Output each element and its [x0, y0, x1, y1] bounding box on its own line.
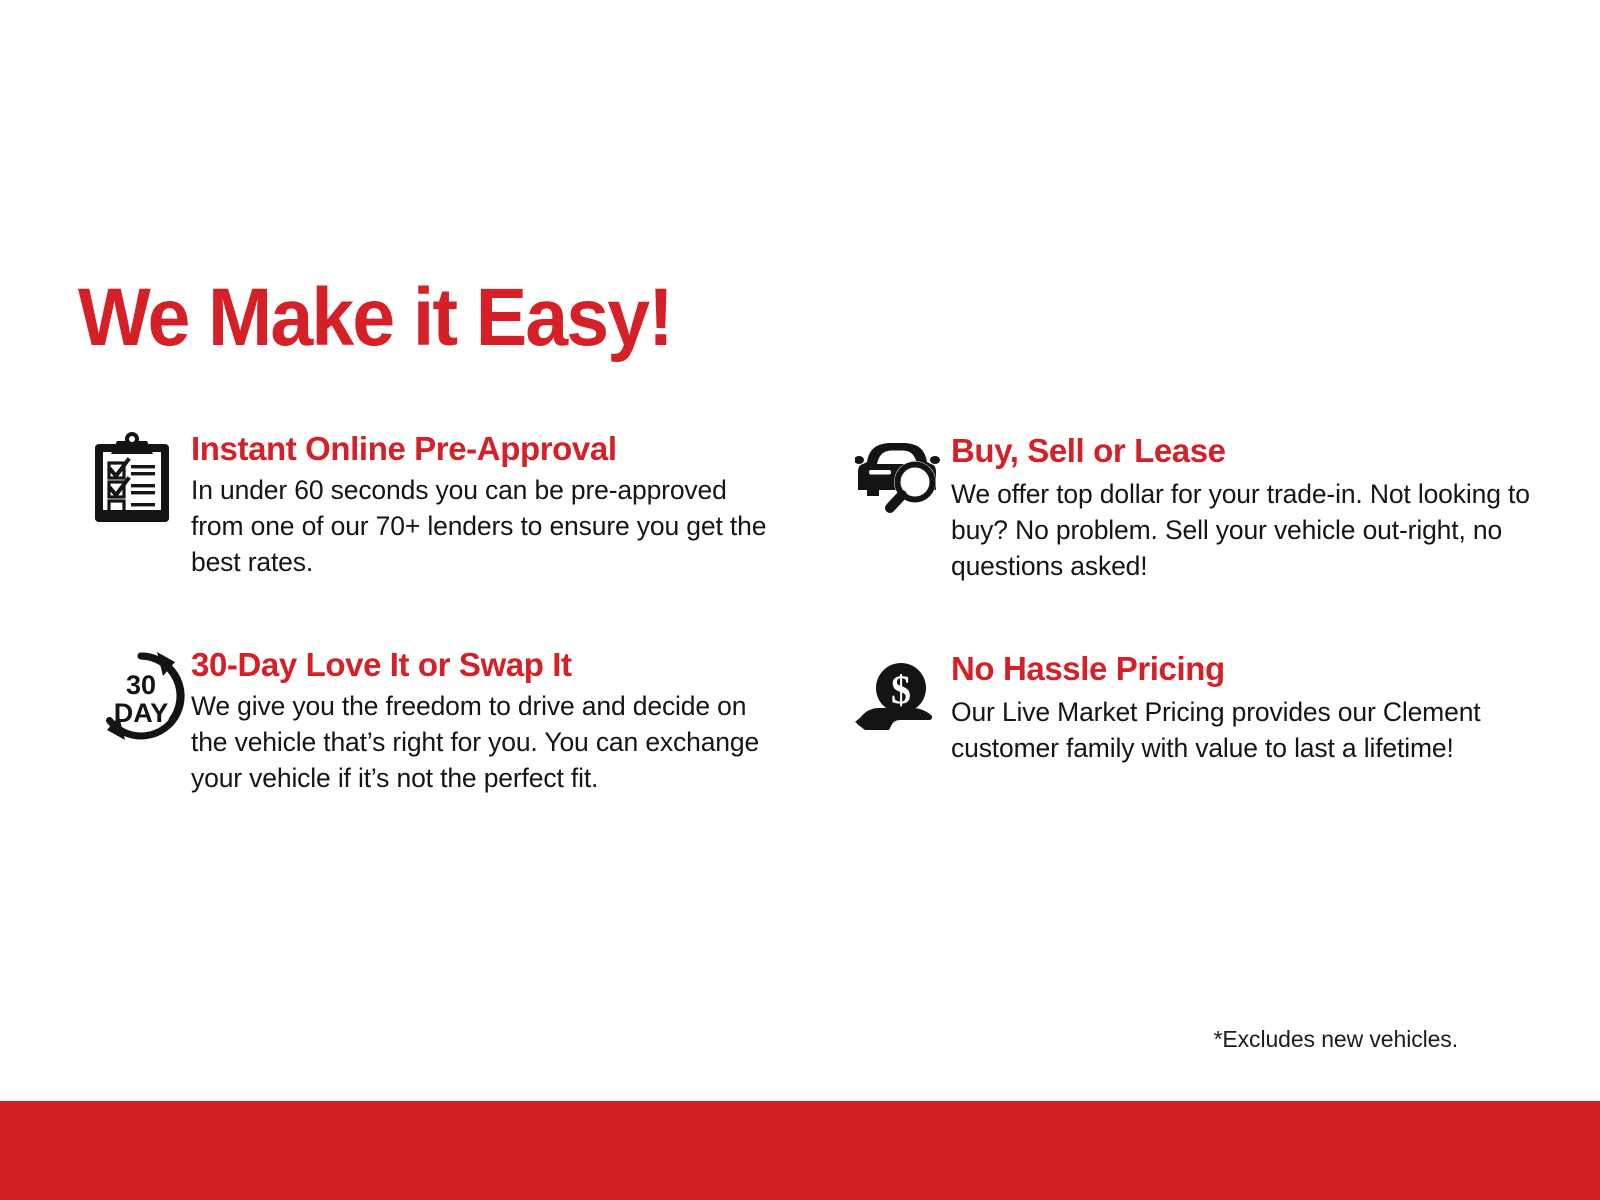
feature-body: Instant Online Pre-Approval In under 60 …: [191, 430, 775, 580]
hand-holding-money-icon: $: [855, 660, 935, 730]
feature-body: 30-Day Love It or Swap It We give you th…: [191, 646, 775, 796]
car-magnifier-icon: [855, 438, 943, 514]
feature-title: Buy, Sell or Lease: [951, 432, 1545, 470]
page-title: We Make it Easy!: [78, 272, 672, 364]
feature-body: No Hassle Pricing Our Live Market Pricin…: [951, 650, 1545, 766]
thirty-day-return-icon: 30 DAY: [95, 650, 187, 742]
svg-text:$: $: [891, 667, 911, 712]
promo-page: We Make it Easy!: [0, 0, 1600, 1200]
feature-buy-sell-or-lease: Buy, Sell or Lease We offer top dollar f…: [855, 432, 1545, 584]
feature-description: We offer top dollar for your trade-in. N…: [951, 476, 1545, 584]
feature-no-hassle-pricing: $ No Hassle Pricing Our Live Market Pric…: [855, 650, 1545, 766]
feature-instant-online-pre-approval: Instant Online Pre-Approval In under 60 …: [95, 430, 775, 580]
footer-accent-bar: [0, 1101, 1600, 1200]
feature-title: No Hassle Pricing: [951, 650, 1545, 688]
footnote-disclaimer: *Excludes new vehicles.: [1214, 1024, 1458, 1054]
feature-title: Instant Online Pre-Approval: [191, 430, 775, 468]
feature-icon-slot: 30 DAY: [95, 646, 191, 742]
feature-icon-slot: [855, 432, 951, 514]
feature-description: In under 60 seconds you can be pre-appro…: [191, 472, 775, 580]
feature-title: 30-Day Love It or Swap It: [191, 646, 775, 684]
feature-30-day-love-it-or-swap-it: 30 DAY 30-Day Love It or Swap It We give…: [95, 646, 775, 796]
thirty-day-icon-number: 30: [126, 670, 156, 700]
feature-icon-slot: [95, 430, 191, 522]
feature-icon-slot: $: [855, 650, 951, 730]
clipboard-checklist-icon: [95, 432, 169, 522]
feature-description: We give you the freedom to drive and dec…: [191, 688, 775, 796]
feature-description: Our Live Market Pricing provides our Cle…: [951, 694, 1545, 766]
thirty-day-icon-label: DAY: [114, 698, 169, 728]
feature-body: Buy, Sell or Lease We offer top dollar f…: [951, 432, 1545, 584]
